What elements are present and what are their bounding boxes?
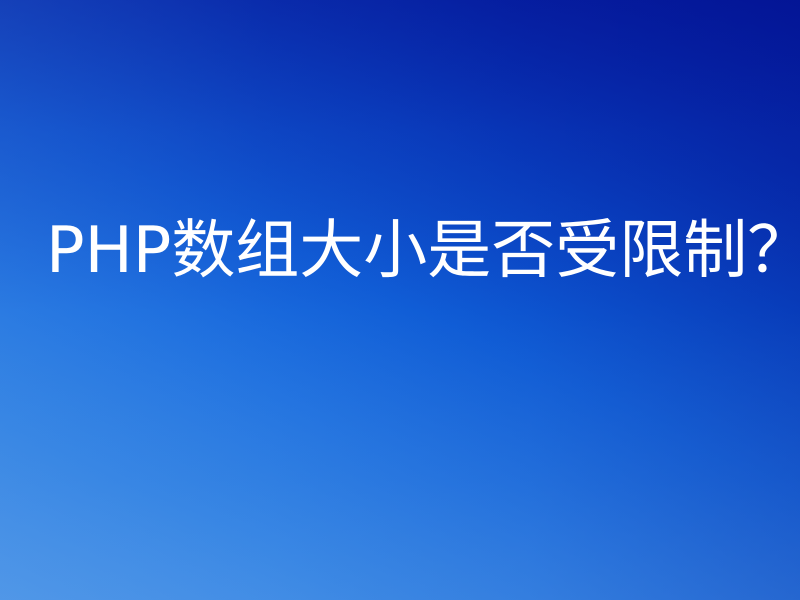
headline-container: PHP数组大小是否受限制？: [0, 0, 800, 600]
title-slide: PHP数组大小是否受限制？: [0, 0, 800, 600]
page-title: PHP数组大小是否受限制？: [46, 214, 758, 288]
